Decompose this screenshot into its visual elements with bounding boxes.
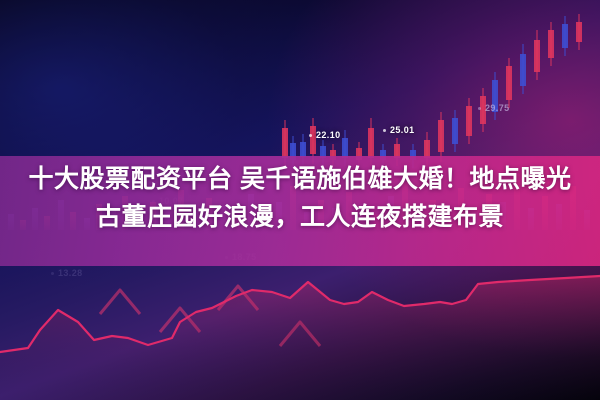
candle-body xyxy=(394,144,400,158)
candle-body xyxy=(320,146,326,158)
candle-body xyxy=(342,138,348,158)
candle-body xyxy=(356,148,362,160)
candle-body xyxy=(368,128,374,158)
headline-line-2: 古董庄园好浪漫，工人连夜搭建布景 xyxy=(0,198,600,236)
candle-body xyxy=(576,22,582,42)
candle-body xyxy=(562,24,568,48)
candle-body xyxy=(438,120,444,152)
candle-body xyxy=(380,150,386,160)
price-line-group xyxy=(0,276,600,400)
headline-line-1: 十大股票配资平台 吴千语施伯雄大婚！地点曝光 xyxy=(0,160,600,198)
candle-body xyxy=(480,96,486,124)
candle-body xyxy=(520,54,526,86)
candle-body xyxy=(282,128,288,158)
price-area-fill xyxy=(0,276,600,400)
candlestick-group xyxy=(282,14,582,168)
candle-body xyxy=(506,66,512,100)
candle-body xyxy=(290,143,296,160)
candle-body xyxy=(548,30,554,58)
candle-body xyxy=(424,140,430,158)
candle-body xyxy=(410,150,416,160)
candle-body xyxy=(300,142,306,157)
candle-body xyxy=(534,40,540,72)
candle-body xyxy=(330,150,336,160)
candle-body xyxy=(492,80,498,112)
banner-image: 22.1025.0129.7510.0718.7513.28 十大股票配资平台 … xyxy=(0,0,600,400)
page-title: 十大股票配资平台 吴千语施伯雄大婚！地点曝光 古董庄园好浪漫，工人连夜搭建布景 xyxy=(0,160,600,236)
candle-body xyxy=(466,106,472,136)
chevron-marker xyxy=(100,290,140,314)
candle-body xyxy=(310,126,316,154)
candle-body xyxy=(452,118,458,144)
